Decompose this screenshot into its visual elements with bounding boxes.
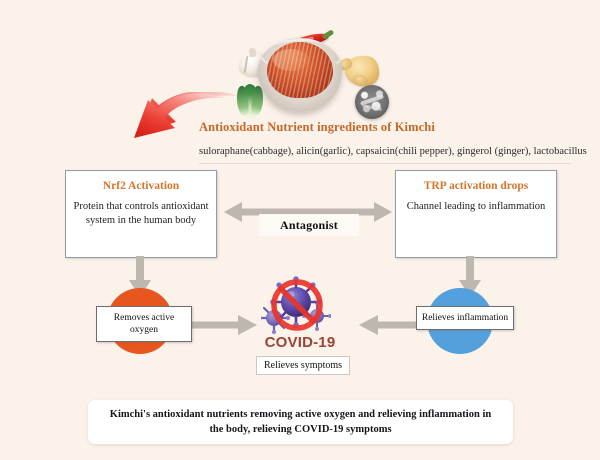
relieves-symptoms-label: Relieves symptoms — [256, 356, 350, 375]
napa-cabbage-icon — [237, 84, 263, 118]
covid-title: COVID-19 — [251, 334, 349, 351]
trp-box-body: Channel leading to inflammation — [403, 200, 549, 214]
removes-active-oxygen-label: Removes active oxygen — [96, 306, 192, 342]
arrow-oxygen-to-covid-icon — [192, 313, 258, 337]
virus-blocked-icon — [261, 276, 331, 338]
trp-activation-box: TRP activation drops Channel leading to … — [395, 170, 557, 258]
ingredient-list: suloraphane(cabbage), alicin(garlic), ca… — [199, 146, 591, 157]
lactobacillus-icon — [355, 85, 389, 119]
figure-caption: Kimchi's antioxidant nutrients removing … — [88, 400, 513, 444]
figure-canvas: Antioxidant Nutrient ingredients of Kimc… — [0, 0, 600, 460]
kimchi-bowl-icon — [258, 38, 342, 112]
ginger-icon — [345, 56, 379, 86]
nrf2-activation-box: Nrf2 Activation Protein that controls an… — [65, 170, 217, 258]
relieves-inflammation-label: Relieves inflammation — [416, 306, 514, 330]
header-title: Antioxidant Nutrient ingredients of Kimc… — [199, 120, 539, 135]
nrf2-box-body: Protein that controls antioxidant system… — [73, 200, 209, 228]
trp-box-title: TRP activation drops — [396, 180, 556, 192]
arrow-inflammation-to-covid-icon — [358, 313, 424, 337]
covid-group: COVID-19 Relieves symptoms — [251, 276, 349, 386]
nrf2-box-title: Nrf2 Activation — [66, 180, 216, 192]
header-divider — [199, 163, 571, 164]
antagonist-label: Antagonist — [259, 214, 359, 236]
